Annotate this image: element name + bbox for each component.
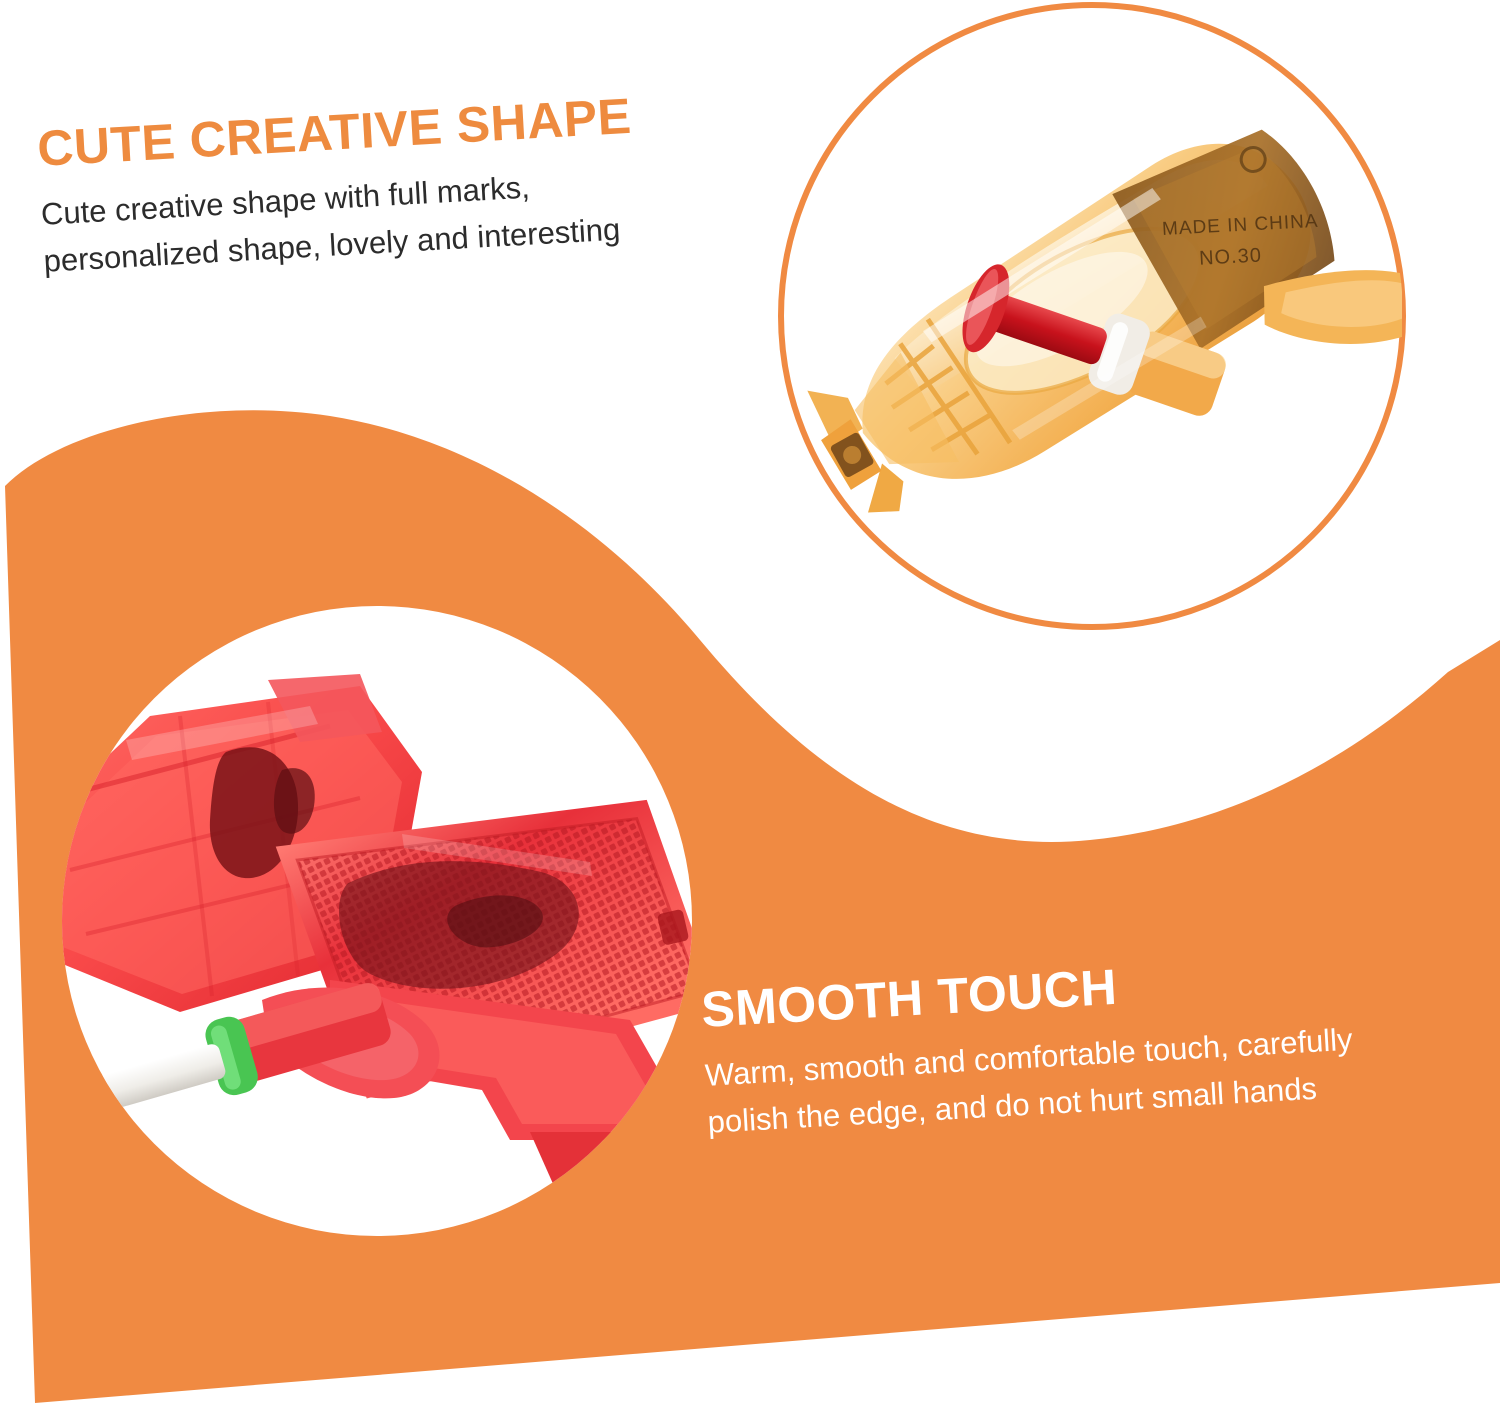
- infographic-canvas: MADE IN CHINA NO.30: [0, 0, 1500, 1406]
- red-gun-photo-circle: [62, 606, 692, 1236]
- orange-gun-photo-circle: [778, 2, 1406, 630]
